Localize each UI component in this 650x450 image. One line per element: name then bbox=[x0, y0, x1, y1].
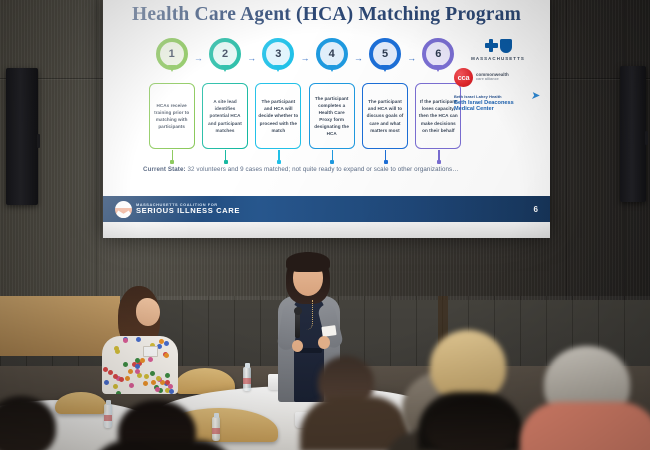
pin-tail bbox=[381, 65, 389, 72]
step-box-2[interactable]: A site lead identifies potential HCA and… bbox=[202, 83, 248, 149]
pin-tail bbox=[328, 65, 336, 72]
step-number-1: 1 bbox=[156, 38, 188, 70]
step-pin-1[interactable]: 1 bbox=[154, 38, 190, 78]
step-number-pins: 1→2→3→4→5→6 bbox=[145, 38, 465, 82]
bilh-line: Medical Center bbox=[454, 106, 542, 113]
floral-dot bbox=[165, 373, 170, 378]
coalition-logo: MASSACHUSETTS COALITION FOR SERIOUS ILLN… bbox=[115, 201, 240, 218]
slide: Health Care Agent (HCA) Matching Program… bbox=[103, 0, 550, 238]
step-arrow-icon: → bbox=[193, 54, 204, 62]
coalition-mark-icon bbox=[115, 201, 132, 218]
left-hand bbox=[292, 340, 303, 352]
step-box-4[interactable]: The participant completes a Health Care … bbox=[309, 83, 355, 149]
floral-dot bbox=[119, 377, 124, 382]
step-arrow-icon: → bbox=[353, 54, 364, 62]
cca-wordmark: commonwealth care alliance bbox=[476, 72, 509, 81]
step-pin-4[interactable]: 4 bbox=[314, 38, 350, 78]
projection-screen: Health Care Agent (HCA) Matching Program… bbox=[103, 0, 550, 238]
floral-dot bbox=[104, 380, 109, 385]
floral-dot bbox=[143, 381, 148, 386]
commonwealth-care-alliance-logo: cca commonwealth care alliance bbox=[454, 68, 542, 87]
water-bottle bbox=[243, 367, 251, 391]
step-pin-6[interactable]: 6 bbox=[420, 38, 456, 78]
step-stem-dot bbox=[330, 160, 334, 164]
blue-shield-icon bbox=[500, 39, 512, 53]
audience-head-dark-right bbox=[426, 398, 518, 450]
floral-dot bbox=[123, 362, 128, 367]
step-boxes: HCAs receive training prior to matching … bbox=[145, 83, 465, 155]
wall-speaker-right bbox=[620, 66, 646, 202]
floral-dot bbox=[151, 380, 156, 385]
water-bottle bbox=[212, 417, 220, 441]
water-bottle bbox=[104, 404, 112, 428]
floral-dot bbox=[129, 383, 134, 388]
step-number-5: 5 bbox=[369, 38, 401, 70]
cca-mark-icon: cca bbox=[454, 68, 473, 87]
slide-title: Health Care Agent (HCA) Matching Program bbox=[103, 4, 550, 26]
floral-dot bbox=[156, 376, 161, 381]
slide-footer-bar: MASSACHUSETTS COALITION FOR SERIOUS ILLN… bbox=[103, 196, 550, 222]
current-state-label: Current State: bbox=[143, 166, 186, 173]
step-box-5[interactable]: The participant and HCA will to discuss … bbox=[362, 83, 408, 149]
floral-dot bbox=[123, 338, 128, 343]
step-pin-3[interactable]: 3 bbox=[260, 38, 296, 78]
step-arrow-icon: → bbox=[406, 54, 417, 62]
floral-dot bbox=[113, 384, 118, 389]
wall-panel-edge bbox=[96, 0, 97, 300]
step-pin-5[interactable]: 5 bbox=[367, 38, 403, 78]
floral-dot bbox=[103, 367, 108, 372]
step-arrow-icon: → bbox=[300, 54, 311, 62]
step-stem-dot bbox=[170, 160, 174, 164]
bilh-line: Beth Israel Deaconess bbox=[454, 100, 542, 107]
floral-dot bbox=[155, 387, 160, 392]
step-number-6: 6 bbox=[422, 38, 454, 70]
right-hand bbox=[318, 336, 330, 349]
pin-tail bbox=[221, 65, 229, 72]
floral-dot bbox=[148, 357, 153, 362]
floral-dot bbox=[128, 369, 133, 374]
floral-dot bbox=[125, 376, 130, 381]
blue-cross-icon bbox=[485, 39, 498, 52]
step-stem-dot bbox=[437, 160, 441, 164]
floral-dot bbox=[150, 371, 155, 376]
floral-dot bbox=[144, 374, 149, 379]
floral-dot bbox=[137, 373, 142, 378]
audience-shoulder-coral-top bbox=[520, 402, 650, 450]
seated-woman-floral-top bbox=[96, 286, 184, 394]
floral-pattern bbox=[102, 336, 178, 394]
slide-number: 6 bbox=[534, 205, 538, 214]
step-text: A site lead identifies potential HCA and… bbox=[205, 98, 245, 134]
floral-dot bbox=[116, 391, 121, 394]
screen-bottom-edge bbox=[103, 222, 550, 238]
bcbs-massachusetts-logo: MASSACHUSETTS bbox=[454, 38, 542, 61]
step-stem-dot bbox=[384, 160, 388, 164]
floral-dot bbox=[115, 349, 120, 354]
coalition-line2: SERIOUS ILLNESS CARE bbox=[136, 207, 240, 215]
floral-dot bbox=[164, 353, 169, 358]
pin-tail bbox=[434, 65, 442, 72]
bcbs-state-label: MASSACHUSETTS bbox=[471, 56, 525, 61]
wall-speaker-left bbox=[6, 68, 38, 205]
microphone-icon bbox=[295, 312, 300, 338]
current-state-text: 32 volunteers and 9 cases matched; not q… bbox=[186, 166, 459, 173]
floral-dot bbox=[168, 384, 173, 389]
swoosh-icon: ➤ bbox=[530, 91, 541, 102]
step-stem-dot bbox=[224, 160, 228, 164]
step-text: If the participant loses capacity, then … bbox=[418, 98, 458, 134]
face bbox=[136, 298, 160, 326]
floral-blouse bbox=[102, 336, 178, 394]
pin-tail bbox=[168, 65, 176, 72]
beth-israel-lahey-health-logo: ➤ Beth Israel Lahey Health Beth Israel D… bbox=[454, 94, 542, 114]
name-tag bbox=[143, 346, 158, 357]
bcbs-marks bbox=[485, 38, 512, 53]
partner-logos: MASSACHUSETTS cca commonwealth care alli… bbox=[454, 38, 542, 120]
cca-line2: care alliance bbox=[476, 77, 509, 81]
bilh-main-line: Beth Israel DeaconessMedical Center bbox=[454, 100, 542, 114]
step-text: The participant and HCA will to discuss … bbox=[365, 98, 405, 134]
step-text: The participant completes a Health Care … bbox=[312, 95, 352, 138]
wall-panel-edge bbox=[566, 0, 567, 300]
floral-dot bbox=[164, 341, 169, 346]
current-state-note: Current State: 32 volunteers and 9 cases… bbox=[143, 166, 520, 173]
step-number-3: 3 bbox=[262, 38, 294, 70]
step-box-3[interactable]: The participant and HCA will decide whet… bbox=[255, 83, 301, 149]
step-box-1[interactable]: HCAs receive training prior to matching … bbox=[149, 83, 195, 149]
conference-room-photo: Health Care Agent (HCA) Matching Program… bbox=[0, 0, 650, 450]
floral-dot bbox=[140, 358, 145, 363]
bilh-top-line: Beth Israel Lahey Health bbox=[454, 94, 542, 99]
pin-tail bbox=[274, 65, 282, 72]
floral-dot bbox=[136, 337, 141, 342]
step-text: The participant and HCA will decide whet… bbox=[258, 98, 298, 134]
step-arrow-icon: → bbox=[246, 54, 257, 62]
hair-front bbox=[286, 252, 330, 272]
step-stem-dot bbox=[277, 160, 281, 164]
coalition-wordmark: MASSACHUSETTS COALITION FOR SERIOUS ILLN… bbox=[136, 203, 240, 216]
step-pin-2[interactable]: 2 bbox=[207, 38, 243, 78]
step-number-4: 4 bbox=[316, 38, 348, 70]
floral-dot bbox=[169, 389, 174, 394]
step-number-2: 2 bbox=[209, 38, 241, 70]
step-text: HCAs receive training prior to matching … bbox=[152, 102, 192, 130]
necklace bbox=[306, 300, 313, 330]
